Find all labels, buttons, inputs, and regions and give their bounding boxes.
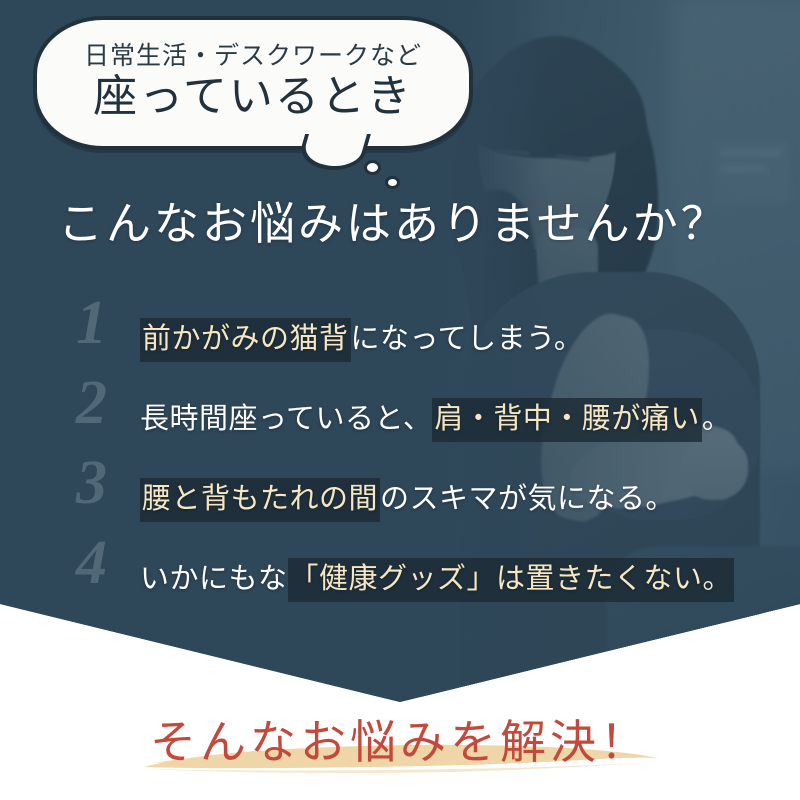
- speech-bubble-tail-join: [295, 120, 375, 134]
- list-item-plain-after: 。: [702, 403, 732, 435]
- list-item: 2 長時間座っていると、肩・背中・腰が痛い。: [0, 376, 800, 456]
- page-title: こんなお悩みはありませんか？: [58, 187, 729, 252]
- list-item-plain-after: のスキマが気になる。: [380, 483, 675, 515]
- list-item-plain-before: 長時間座っていると、: [140, 403, 432, 435]
- list-item-highlight: 腰と背もたれの間: [140, 478, 380, 522]
- list-item-text: いかにもな「健康グッズ」は置きたくない。: [140, 555, 734, 597]
- cta-section: そんなお悩みを解決！: [0, 700, 800, 800]
- list-item-number: 2: [76, 372, 132, 434]
- list-item-number: 1: [76, 292, 132, 354]
- list-item-text: 長時間座っていると、肩・背中・腰が痛い。: [140, 395, 731, 437]
- speech-bubble: 日常生活・デスクワークなど 座っているとき: [33, 16, 473, 176]
- list-item-plain-before: いかにもな: [140, 563, 288, 595]
- list-item-highlight: 「健康グッズ」は置きたくない。: [288, 558, 735, 602]
- bubble-dot-large-icon: [364, 160, 381, 175]
- speech-bubble-title: 座っているとき: [93, 72, 413, 121]
- list-item: 4 いかにもな「健康グッズ」は置きたくない。: [0, 536, 800, 616]
- list-item-text: 前かがみの猫背になってしまう。: [140, 315, 583, 357]
- list-item-highlight: 肩・背中・腰が痛い: [432, 398, 702, 442]
- problem-list: 1 前かがみの猫背になってしまう。 2 長時間座っていると、肩・背中・腰が痛い。…: [0, 296, 800, 616]
- list-item: 3 腰と背もたれの間のスキマが気になる。: [0, 456, 800, 536]
- hero-panel: 日常生活・デスクワークなど 座っているとき こんなお悩みはありませんか？ 1 前…: [0, 0, 800, 702]
- list-item-number: 4: [76, 532, 132, 594]
- list-item: 1 前かがみの猫背になってしまう。: [0, 296, 800, 376]
- speech-bubble-subtitle: 日常生活・デスクワークなど: [84, 43, 422, 71]
- list-item-number: 3: [76, 452, 132, 514]
- list-item-plain-after: になってしまう。: [351, 323, 584, 355]
- list-item-text: 腰と背もたれの間のスキマが気になる。: [140, 475, 675, 517]
- list-item-highlight: 前かがみの猫背: [140, 318, 351, 362]
- speech-bubble-content: 日常生活・デスクワークなど 座っているとき: [37, 20, 469, 146]
- cta-headline: そんなお悩みを解決！: [0, 706, 800, 772]
- speech-bubble-body: 日常生活・デスクワークなど 座っているとき: [33, 16, 473, 150]
